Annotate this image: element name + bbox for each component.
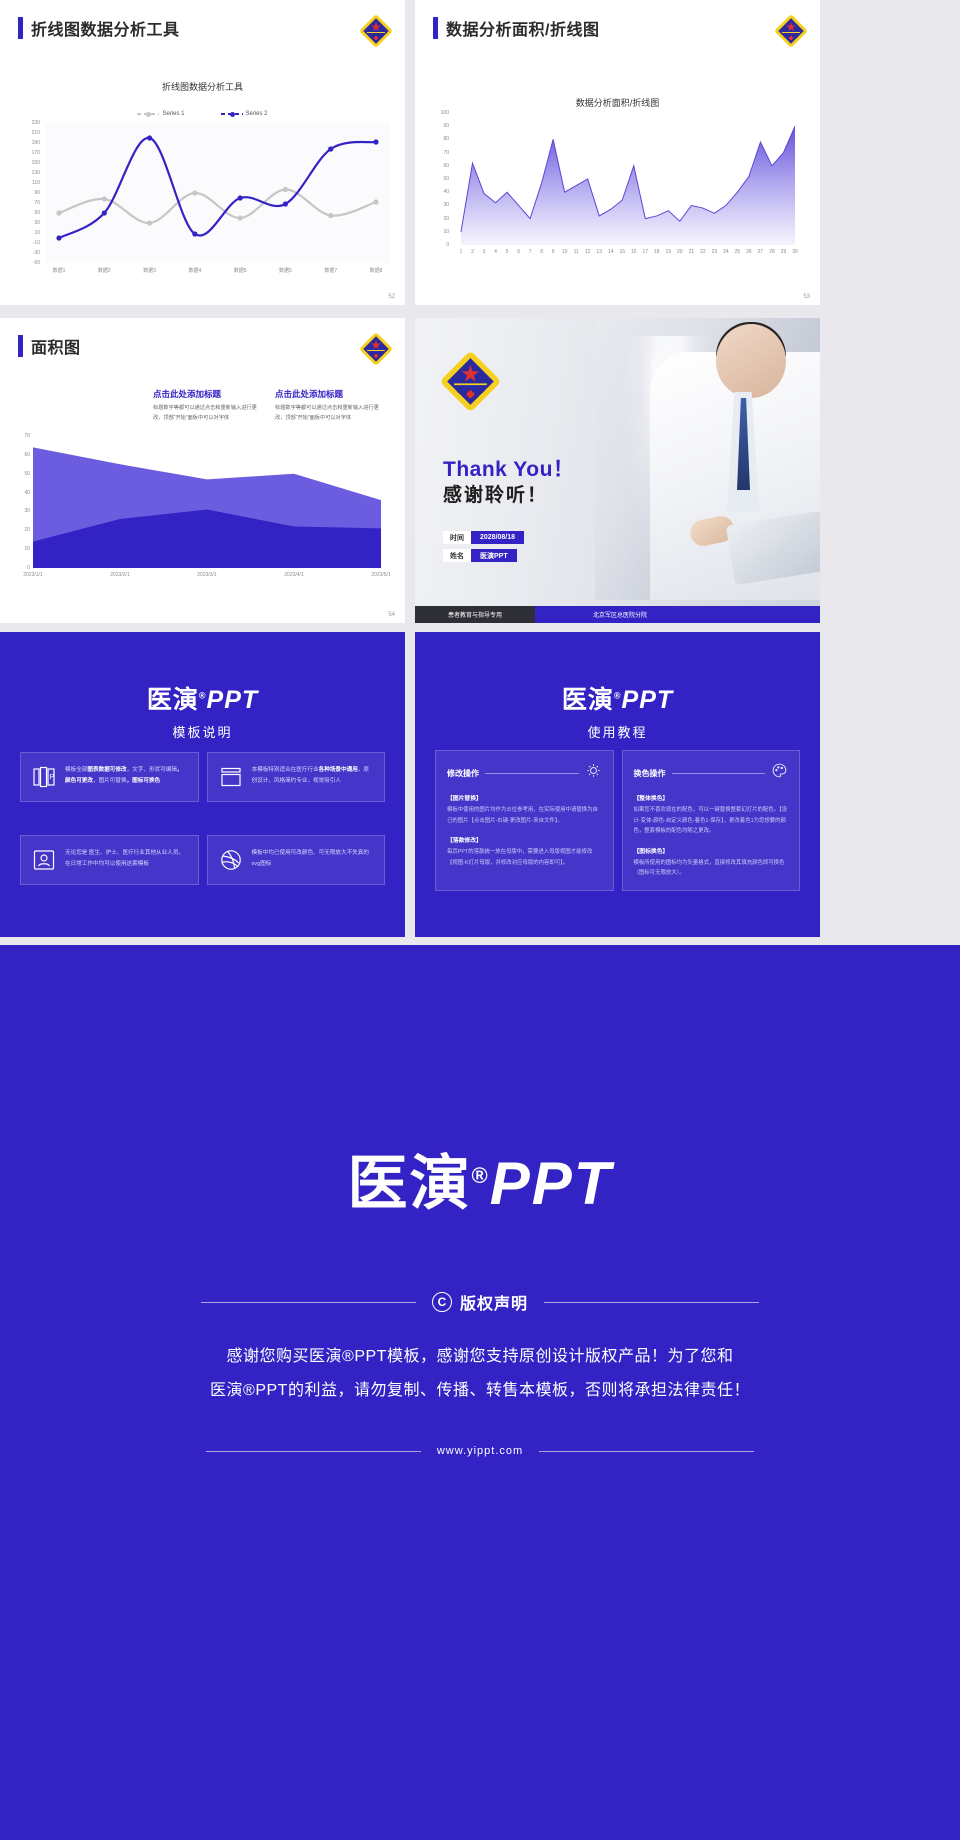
slide-header: 数据分析面积/折线图	[433, 16, 599, 40]
x-tick-label: 30	[787, 249, 803, 255]
divider-line	[672, 773, 766, 774]
slide-title: 折线图数据分析工具	[31, 16, 180, 40]
page-number: 53	[803, 294, 810, 300]
area-chart-plot	[33, 436, 381, 568]
chart-legend: Series 1 Series 2	[0, 111, 405, 117]
y-tick-label: 30	[24, 220, 40, 226]
x-tick-label: 2023/4/1	[272, 572, 316, 578]
y-tick-label: 30	[14, 508, 30, 514]
y-tick-label: 90	[24, 190, 40, 196]
section-body: 如果您不喜欢现在的配色，可以一键替换整套幻灯片的配色。【设计-变体-颜色-自定义…	[634, 805, 789, 837]
feature-text: 本模板特别适合在医疗行业各种场景中通用，原创设计，风格简约专业，视觉吸引人	[252, 765, 375, 789]
slide-copyright[interactable]: 医演®PPT C 版权声明 感谢您购买医演®PPT模板，感谢您支持原创设计版权产…	[0, 945, 960, 1840]
x-tick-label: 数据5	[222, 267, 258, 274]
tutorial-column-recolor[interactable]: 换色操作 【整体换色】 如果您不喜欢现在的配色，可以一键替换整套幻灯片的配色。【…	[622, 750, 801, 891]
tutorial-section: 【整体换色】 如果您不喜欢现在的配色，可以一键替换整套幻灯片的配色。【设计-变体…	[634, 793, 789, 837]
y-tick-label: 50	[24, 210, 40, 216]
y-tick-label: 40	[14, 490, 30, 496]
slide-thank-you[interactable]: Thank You！ 感谢聆听！ 时间 2028/08/18 姓名 医演PPT …	[415, 318, 820, 623]
y-tick-label: 10	[24, 230, 40, 236]
column-header: 修改操作	[447, 762, 602, 784]
brand-block: 医演®PPT 模板说明	[0, 680, 405, 741]
page-number: 52	[388, 294, 395, 300]
column-title: 修改操作	[447, 768, 479, 779]
brand-ppt: PPT	[622, 686, 674, 714]
org-emblem-logo	[361, 16, 391, 46]
footer-right-label: 北京军区总医院分院	[535, 606, 820, 623]
slide-header: 面积图	[18, 334, 81, 358]
feature-box[interactable]: 本模板特别适合在医疗行业各种场景中通用，原创设计，风格简约专业，视觉吸引人	[207, 752, 386, 802]
copyright-label: 版权声明	[460, 1290, 528, 1314]
feature-text: 模板中均已使用可改颜色、可无限放大不失真的svg图标	[252, 848, 375, 872]
org-emblem-logo	[443, 354, 498, 409]
tutorial-columns: 修改操作 【图片替换】 模板中使用的图片均作为占位参考用，在实际使用中请替换为自…	[435, 750, 800, 891]
slide-footer: 患者教育与指导专用 北京军区总医院分院	[415, 606, 820, 623]
thank-you-cn: 感谢聆听！	[443, 480, 548, 507]
x-tick-label: 数据4	[177, 267, 213, 274]
legend-label-series2: Series 2	[246, 111, 268, 117]
y-tick-label: 70	[24, 200, 40, 206]
org-emblem-logo	[361, 334, 391, 364]
y-tick-label: 20	[433, 216, 449, 222]
ft-p0: 本模板特别适合在医疗行业	[252, 767, 319, 773]
brand-subtitle: 模板说明	[0, 722, 405, 741]
column-title: 换色操作	[634, 768, 666, 779]
y-tick-label: 110	[24, 180, 40, 186]
section-body: 模板所使用的图标均为矢量格式，直接修改其填充颜色即可换色（图标可无限放大）。	[634, 858, 789, 879]
user-icon	[31, 848, 57, 872]
x-tick-label: 数据7	[313, 267, 349, 274]
y-tick-label: 170	[24, 150, 40, 156]
emblem-icon	[361, 16, 391, 46]
legend-swatch-series2	[221, 113, 243, 115]
y-tick-label: 40	[433, 189, 449, 195]
legend-item-series2: Series 2	[221, 111, 268, 117]
chart-title: 数据分析面积/折线图	[415, 96, 820, 109]
x-tick-label: 数据8	[358, 267, 394, 274]
feature-box-row-2: 无论您是 医生、护士、医疗行业其他从业人员，在日常工作中均可以使用这套模板 模板…	[20, 835, 385, 885]
brand-name: 医演®PPT	[415, 680, 820, 716]
ft-p0: 模板全部	[65, 767, 87, 773]
emblem-icon	[443, 354, 544, 455]
legend-swatch-series1	[137, 113, 159, 115]
doctor-photo	[595, 318, 820, 600]
meta-value-date: 2028/08/18	[471, 531, 524, 544]
section-body: 模板中使用的图片均作为占位参考用，在实际使用中请替换为自己的图片【点击图片-右键…	[447, 805, 602, 826]
feature-box[interactable]: 模板中均已使用可改颜色、可无限放大不失真的svg图标	[207, 835, 386, 885]
y-tick-label: 60	[433, 163, 449, 169]
chart-title: 折线图数据分析工具	[0, 80, 405, 93]
divider-line-left	[201, 1302, 416, 1303]
brand-subtitle: 使用教程	[415, 722, 820, 741]
meta-value-name: 医演PPT	[471, 549, 517, 562]
meta-key-date: 时间	[443, 531, 471, 544]
area-chart-plot	[453, 113, 803, 245]
brand-name-large: 医演®PPT	[0, 1135, 960, 1222]
copyright-text: 感谢您购买医演®PPT模板，感谢您支持原创设计版权产品！为了您和 医演®PPT的…	[0, 1340, 960, 1407]
y-tick-label: 10	[433, 229, 449, 235]
meta-row-date: 时间 2028/08/18	[443, 531, 524, 544]
tutorial-section: 【图片替换】 模板中使用的图片均作为占位参考用，在实际使用中请替换为自己的图片【…	[447, 793, 602, 826]
slides-icon: P	[31, 765, 57, 789]
tutorial-section: 【图标换色】 模板所使用的图标均为矢量格式，直接修改其填充颜色即可换色（图标可无…	[634, 846, 789, 879]
y-tick-label: -30	[24, 250, 40, 256]
meta-key-name: 姓名	[443, 549, 471, 562]
copyright-badge: C 版权声明	[432, 1290, 528, 1314]
ft-p2: ，文字、形状可编辑	[127, 767, 177, 773]
brand-block: 医演®PPT 使用教程	[415, 680, 820, 741]
y-tick-label: 70	[14, 433, 30, 439]
y-tick-label: 80	[433, 136, 449, 142]
x-tick-label: 2023/1/1	[11, 572, 55, 578]
slide-header: 折线图数据分析工具	[18, 16, 180, 40]
brand-registered-mark: ®	[199, 691, 207, 701]
bulb-icon	[585, 762, 602, 784]
section-body: 每页PPT的落款统一放在母版中，需要进入母版视图才能修改【视图-K灯片母版，并修…	[447, 847, 602, 868]
x-tick-label: 数据1	[41, 267, 77, 274]
y-tick-label: 150	[24, 160, 40, 166]
section-heading: 【落款修改】	[447, 835, 602, 844]
divider-line-right	[544, 1302, 759, 1303]
caption-block-2: 点击此处添加标题 标题数字等都可以通过点击和重新输入进行更改，顶部“开始”面板中…	[275, 388, 387, 424]
ft-p5: ，图标可换色	[127, 778, 161, 784]
y-tick-label: 50	[14, 471, 30, 477]
brand-name: 医演®PPT	[0, 680, 405, 716]
divider-line-right	[539, 1451, 754, 1452]
section-heading: 【图标换色】	[634, 846, 789, 855]
header-accent-bar	[18, 335, 23, 357]
tutorial-section: 【落款修改】 每页PPT的落款统一放在母版中，需要进入母版视图才能修改【视图-K…	[447, 835, 602, 868]
y-tick-label: 10	[14, 546, 30, 552]
y-tick-label: 20	[14, 527, 30, 533]
brand-main: 医演	[147, 686, 199, 714]
legend-label-series1: Series 1	[162, 111, 184, 117]
ft-p0: 模板中均已使用可改颜色、可无限放大不失真的svg图标	[252, 850, 369, 867]
caption-body: 标题数字等都可以通过点击和重新输入进行更改，顶部“开始”面板中可以对字体	[275, 404, 387, 424]
y-tick-label: 0	[14, 565, 30, 571]
divider-line-left	[206, 1451, 421, 1452]
doctor-coat	[650, 352, 820, 600]
brand-main: 医演	[562, 686, 614, 714]
copyright-icon: C	[432, 1292, 452, 1312]
x-tick-label: 2023/3/1	[185, 572, 229, 578]
x-tick-label: 数据6	[267, 267, 303, 274]
tablet-device	[726, 511, 820, 585]
legend-item-series1: Series 1	[137, 111, 184, 117]
org-emblem-logo	[776, 16, 806, 46]
slide-deck-page: 折线图数据分析工具 折线图数据分析工具 Series 1 Series 2 23…	[0, 0, 960, 1840]
y-tick-label: 50	[433, 176, 449, 182]
copyright-line-2: 医演®PPT的利益，请勿复制、传播、转售本模板，否则将承担法律责任！	[0, 1374, 960, 1408]
slide-line-chart[interactable]: 折线图数据分析工具 折线图数据分析工具 Series 1 Series 2 23…	[0, 0, 405, 305]
slide-title: 数据分析面积/折线图	[446, 16, 599, 40]
y-tick-label: 70	[433, 150, 449, 156]
ft-p0: 无论您是 医生、护士、医疗行业其他从业人员，在日常工作中均可以使用这套模板	[65, 850, 184, 867]
feature-box[interactable]: P 模板全部图表数据可修改，文字、形状可编辑，颜色可更改，图片可替换，图标可换色	[20, 752, 199, 802]
emblem-icon	[361, 334, 391, 364]
caption-body: 标题数字等都可以通过点击和重新输入进行更改，顶部“开始”面板中可以对字体	[153, 404, 265, 424]
brand-main: 医演	[348, 1150, 472, 1217]
brand-registered-mark: ®	[472, 1163, 490, 1188]
y-tick-label: 190	[24, 140, 40, 146]
header-accent-bar	[433, 17, 438, 39]
line-chart-plot	[45, 123, 390, 263]
svg-text:P: P	[50, 774, 55, 781]
slide-title: 面积图	[31, 334, 81, 358]
brand-registered-mark: ®	[614, 691, 622, 701]
feature-text: 模板全部图表数据可修改，文字、形状可编辑，颜色可更改，图片可替换，图标可换色	[65, 765, 188, 789]
doctor-head	[716, 324, 786, 398]
x-tick-label: 2023/5/1	[359, 572, 403, 578]
footer-left-label: 患者教育与指导专用	[415, 606, 535, 623]
dribbble-icon	[218, 848, 244, 872]
box-icon	[218, 765, 244, 789]
website-url[interactable]: www.yippt.com	[437, 1445, 523, 1457]
y-tick-label: 30	[433, 202, 449, 208]
y-tick-label: 0	[433, 242, 449, 248]
section-heading: 【整体换色】	[634, 793, 789, 802]
y-tick-label: 130	[24, 170, 40, 176]
y-tick-label: 210	[24, 130, 40, 136]
y-tick-label: 230	[24, 120, 40, 126]
feature-box-row-1: P 模板全部图表数据可修改，文字、形状可编辑，颜色可更改，图片可替换，图标可换色…	[20, 752, 385, 802]
copyright-line-1: 感谢您购买医演®PPT模板，感谢您支持原创设计版权产品！为了您和	[0, 1340, 960, 1374]
copyright-header-row: C 版权声明	[0, 1290, 960, 1314]
url-row: www.yippt.com	[0, 1445, 960, 1457]
ft-p1: 图表数据可修改	[87, 767, 126, 773]
ft-p1: 各种场景中通用	[319, 767, 358, 773]
thank-you-en: Thank You！	[443, 453, 574, 483]
slide-tutorial[interactable]: 医演®PPT 使用教程 修改操作 【图片替换】 模板中使用的图片均作为占位参	[415, 632, 820, 937]
brand-ppt: PPT	[207, 686, 259, 714]
x-tick-label: 数据3	[132, 267, 168, 274]
slide-area-chart[interactable]: 面积图 点击此处添加标题 标题数字等都可以通过点击和重新输入进行更改，顶部“开始…	[0, 318, 405, 623]
x-tick-label: 数据2	[86, 267, 122, 274]
brand-ppt: PPT	[490, 1150, 613, 1217]
caption-title: 点击此处添加标题	[153, 388, 265, 400]
y-tick-label: 60	[14, 452, 30, 458]
caption-title: 点击此处添加标题	[275, 388, 387, 400]
slide-template-info[interactable]: 医演®PPT 模板说明 P 模板全部图表数据可修改，文字、形状可编辑，颜色可更改…	[0, 632, 405, 937]
y-tick-label: 100	[433, 110, 449, 116]
feature-box[interactable]: 无论您是 医生、护士、医疗行业其他从业人员，在日常工作中均可以使用这套模板	[20, 835, 199, 885]
page-number: 54	[388, 612, 395, 618]
x-tick-label: 2023/2/1	[98, 572, 142, 578]
feature-text: 无论您是 医生、护士、医疗行业其他从业人员，在日常工作中均可以使用这套模板	[65, 848, 188, 872]
meta-row-name: 姓名 医演PPT	[443, 549, 517, 562]
header-accent-bar	[18, 17, 23, 39]
tutorial-column-modify[interactable]: 修改操作 【图片替换】 模板中使用的图片均作为占位参考用，在实际使用中请替换为自…	[435, 750, 614, 891]
y-tick-label: -10	[24, 240, 40, 246]
y-tick-label: -50	[24, 260, 40, 266]
ft-p4: ，图片可替换	[93, 778, 127, 784]
section-heading: 【图片替换】	[447, 793, 602, 802]
emblem-icon	[776, 16, 806, 46]
divider-line	[485, 773, 579, 774]
y-tick-label: 90	[433, 123, 449, 129]
caption-block-1: 点击此处添加标题 标题数字等都可以通过点击和重新输入进行更改，顶部“开始”面板中…	[153, 388, 265, 424]
slide-area-line-chart[interactable]: 数据分析面积/折线图 数据分析面积/折线图 100908070605040302…	[415, 0, 820, 305]
column-header: 换色操作	[634, 762, 789, 784]
palette-icon	[771, 762, 788, 784]
